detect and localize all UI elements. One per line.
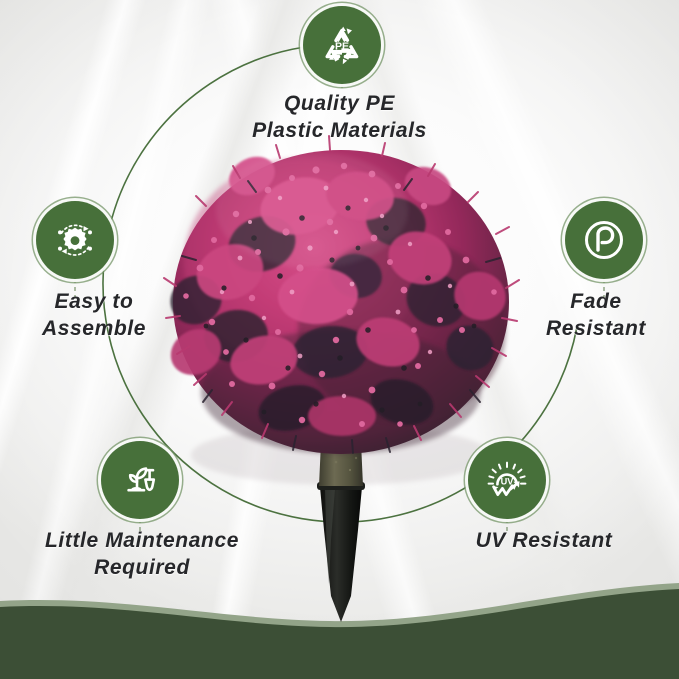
feature-label-quality-pe: Quality PE Plastic Materials	[0, 90, 679, 144]
feature-badge-uv-resistant[interactable]: UV	[468, 441, 546, 519]
feature-label-little-maintenance: Little Maintenance Required	[0, 527, 284, 581]
feature-badge-quality-pe[interactable]: PE	[303, 6, 381, 84]
seedling-shovel-icon	[114, 454, 166, 506]
feature-label-line-1: Fade	[516, 288, 676, 315]
recycle-pe-icon: PE	[316, 19, 368, 71]
feature-badge-little-maintenance[interactable]	[101, 441, 179, 519]
leaf-in-circle-icon	[578, 214, 630, 266]
feature-label-line-2: Assemble	[0, 315, 188, 342]
recycle-icon-label: PE	[335, 41, 349, 53]
feature-label-line-1: Little Maintenance	[0, 527, 284, 554]
feature-badge-fade-resistant[interactable]	[565, 201, 643, 279]
gear-rotate-icon	[49, 214, 101, 266]
feature-label-easy-to-assemble: Easy to Assemble	[0, 288, 188, 342]
feature-label-line-2: Plastic Materials	[0, 117, 679, 144]
feature-label-line-1: UV Resistant	[414, 527, 674, 554]
uv-sun-arrows-icon: UV	[481, 454, 533, 506]
feature-label-line-1: Easy to	[0, 288, 188, 315]
feature-label-line-2: Required	[0, 554, 284, 581]
feature-label-line-2: Resistant	[516, 315, 676, 342]
feature-label-line-1: Quality PE	[0, 90, 679, 117]
product-feature-infographic: PE Quality PE Plastic Materials	[0, 0, 679, 679]
feature-badge-easy-to-assemble[interactable]	[36, 201, 114, 279]
feature-label-fade-resistant: Fade Resistant	[516, 288, 676, 342]
feature-label-uv-resistant: UV Resistant	[414, 527, 674, 554]
